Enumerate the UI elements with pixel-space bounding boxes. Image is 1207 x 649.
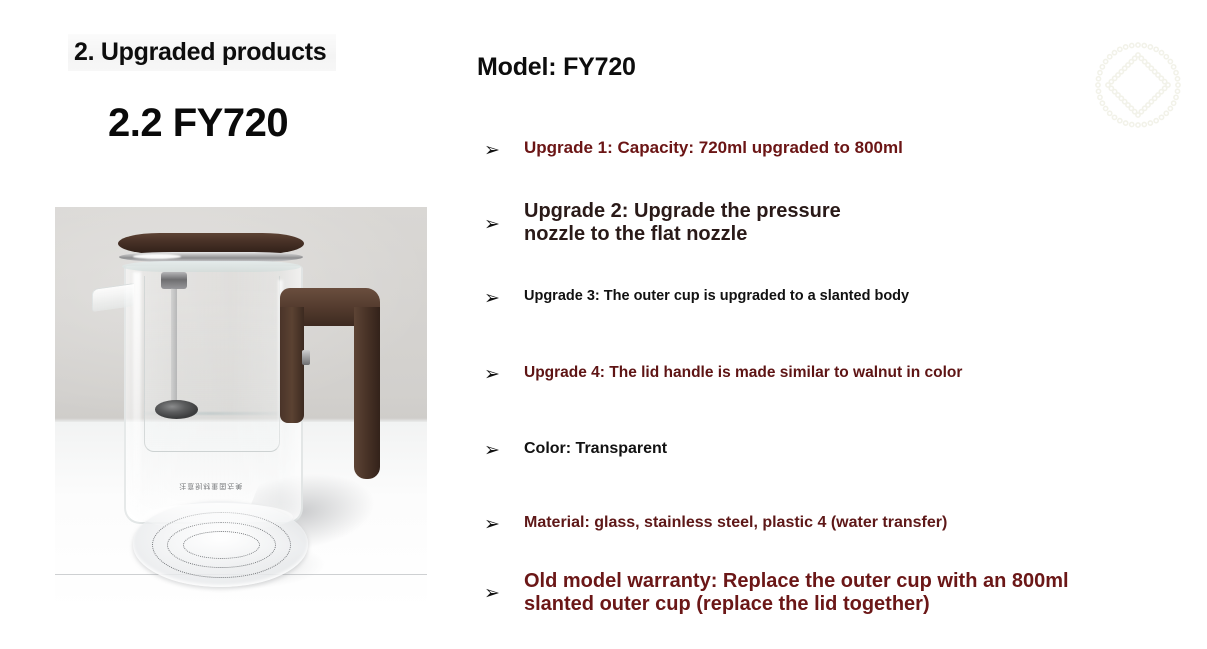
bullet-text-upgrade-2: Upgrade 2: Upgrade the pressure nozzle t… [524,200,841,246]
teapot-walnut-handle [280,288,380,475]
handle-metal-clip [302,350,310,365]
bullet-text-upgrade-1: Upgrade 1: Capacity: 720ml upgraded to 8… [524,138,903,158]
product-photo-scene: 注意别材重国左美 [55,207,427,613]
teapot-pressure-valve [161,272,187,289]
bullet-item-warranty: ➢ Old model warranty: Replace the outer … [484,570,1069,616]
product-photo: 注意别材重国左美 [55,207,427,613]
arrow-bullet-icon: ➢ [484,288,524,308]
bullet-item-color: ➢ Color: Transparent [484,440,667,460]
bullet-item-upgrade-2: ➢ Upgrade 2: Upgrade the pressure nozzle… [484,200,841,246]
arrow-bullet-icon: ➢ [484,440,524,460]
filter-disc-highlight [144,503,293,531]
steel-ring-highlight [133,254,181,259]
slide-canvas: 2. Upgraded products 2.2 FY720 [0,0,1207,649]
bullet-item-upgrade-1: ➢ Upgrade 1: Capacity: 720ml upgraded to… [484,138,903,160]
handle-outer-arm [354,307,380,479]
bullet-text-material: Material: glass, stainless steel, plasti… [524,514,947,533]
teapot-glass-rim [122,261,301,272]
section-title: 2. Upgraded products [68,34,336,71]
teapot-inner-cup [144,276,280,452]
arrow-bullet-icon: ➢ [484,200,524,234]
bullet-text-warranty: Old model warranty: Replace the outer cu… [524,570,1069,616]
teapot-nozzle-plunger [155,400,198,419]
dotted-circle-diamond-watermark [1086,33,1190,137]
arrow-bullet-icon: ➢ [484,514,524,534]
bullet-text-upgrade-4: Upgrade 4: The lid handle is made simila… [524,364,962,382]
filter-hole-ring-inner [183,531,259,559]
bullet-item-material: ➢ Material: glass, stainless steel, plas… [484,514,947,534]
handle-inner-arm [280,307,304,423]
bullet-text-upgrade-3: Upgrade 3: The outer cup is upgraded to … [524,288,909,305]
section-subtitle: 2.2 FY720 [108,101,288,146]
glass-highlight-left [133,272,141,507]
photo-printed-label: 注意别材重国左美 [155,481,267,491]
model-title: Model: FY720 [477,53,636,82]
arrow-bullet-icon: ➢ [484,364,524,384]
arrow-bullet-icon: ➢ [484,138,524,160]
bullet-item-upgrade-3: ➢ Upgrade 3: The outer cup is upgraded t… [484,288,909,308]
arrow-bullet-icon: ➢ [484,570,524,603]
bullet-text-color: Color: Transparent [524,440,667,459]
teapot-valve-rod [171,288,177,410]
teapot-walnut-lid [118,233,304,255]
bullet-item-upgrade-4: ➢ Upgrade 4: The lid handle is made simi… [484,364,962,384]
